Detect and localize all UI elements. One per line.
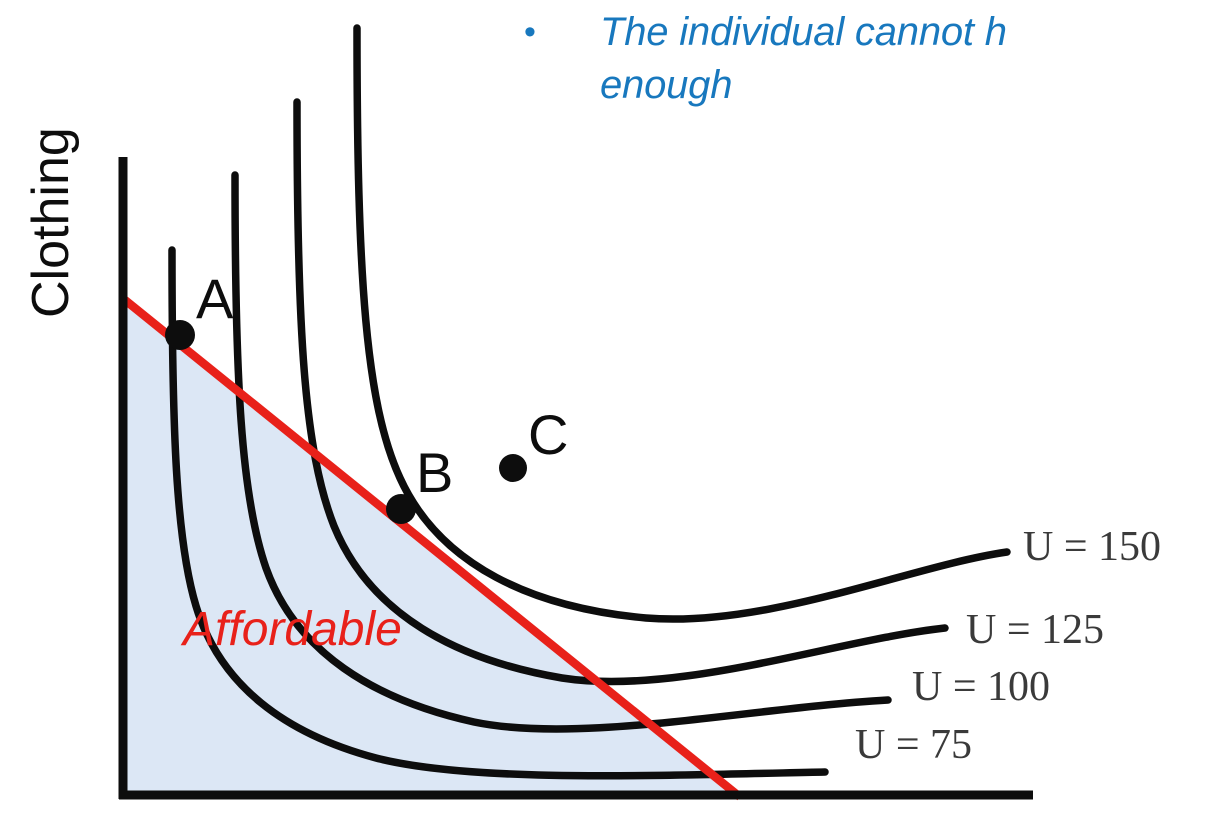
curve-label-u100: U = 100 [912, 664, 1050, 710]
curve-label-u150: U = 150 [1023, 524, 1161, 570]
curve-label-u125: U = 125 [966, 607, 1104, 653]
y-axis-title: Clothing [22, 127, 80, 318]
indifference-curve-chart: A B C U = 150 U = 125 U = 100 U = 75 Aff… [0, 0, 1209, 821]
data-point-a[interactable] [165, 320, 195, 350]
data-point-label-b: B [416, 441, 453, 504]
curve-label-u75: U = 75 [855, 722, 972, 768]
indifference-curve-u150 [357, 28, 1007, 619]
affordable-region-label: Affordable [180, 603, 402, 656]
data-point-label-a: A [196, 267, 234, 330]
slide-canvas: • The individual cannot h enough A B C U… [0, 0, 1209, 821]
data-point-c[interactable] [499, 454, 527, 482]
data-point-b[interactable] [386, 494, 416, 524]
data-point-label-c: C [528, 403, 568, 466]
